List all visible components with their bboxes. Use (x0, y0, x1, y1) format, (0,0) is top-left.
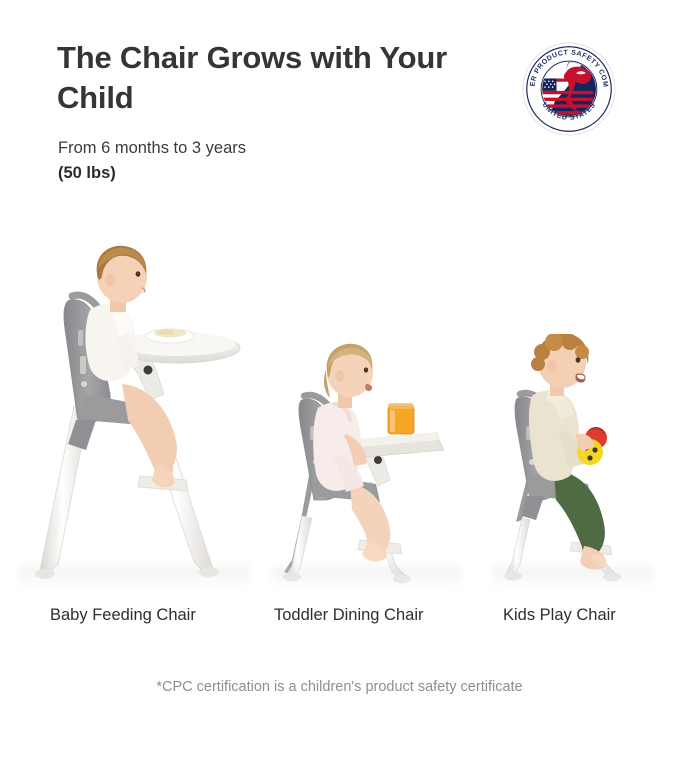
footnote-text: *CPC certification is a children's produ… (0, 679, 679, 695)
cpsc-seal-icon: CONSUMER PRODUCT SAFETY COMMISSION UNITE… (521, 41, 617, 137)
product-image-toddler-dining-chair (272, 334, 462, 592)
page-title: The Chair Grows with Your Child (57, 38, 477, 118)
product-image-baby-feeding-chair (18, 244, 250, 592)
infographic-page: The Chair Grows with Your Child From 6 m… (0, 0, 679, 764)
product-row (0, 236, 679, 592)
age-range-text: From 6 months to 3 years (58, 137, 246, 159)
product-label-kids-play-chair: Kids Play Chair (503, 606, 616, 625)
product-label-baby-feeding-chair: Baby Feeding Chair (50, 606, 196, 625)
weight-limit-text: (50 lbs) (58, 162, 116, 184)
juice-cup-icon (388, 403, 414, 434)
product-label-toddler-dining-chair: Toddler Dining Chair (274, 606, 424, 625)
product-image-kids-play-chair (492, 334, 654, 592)
